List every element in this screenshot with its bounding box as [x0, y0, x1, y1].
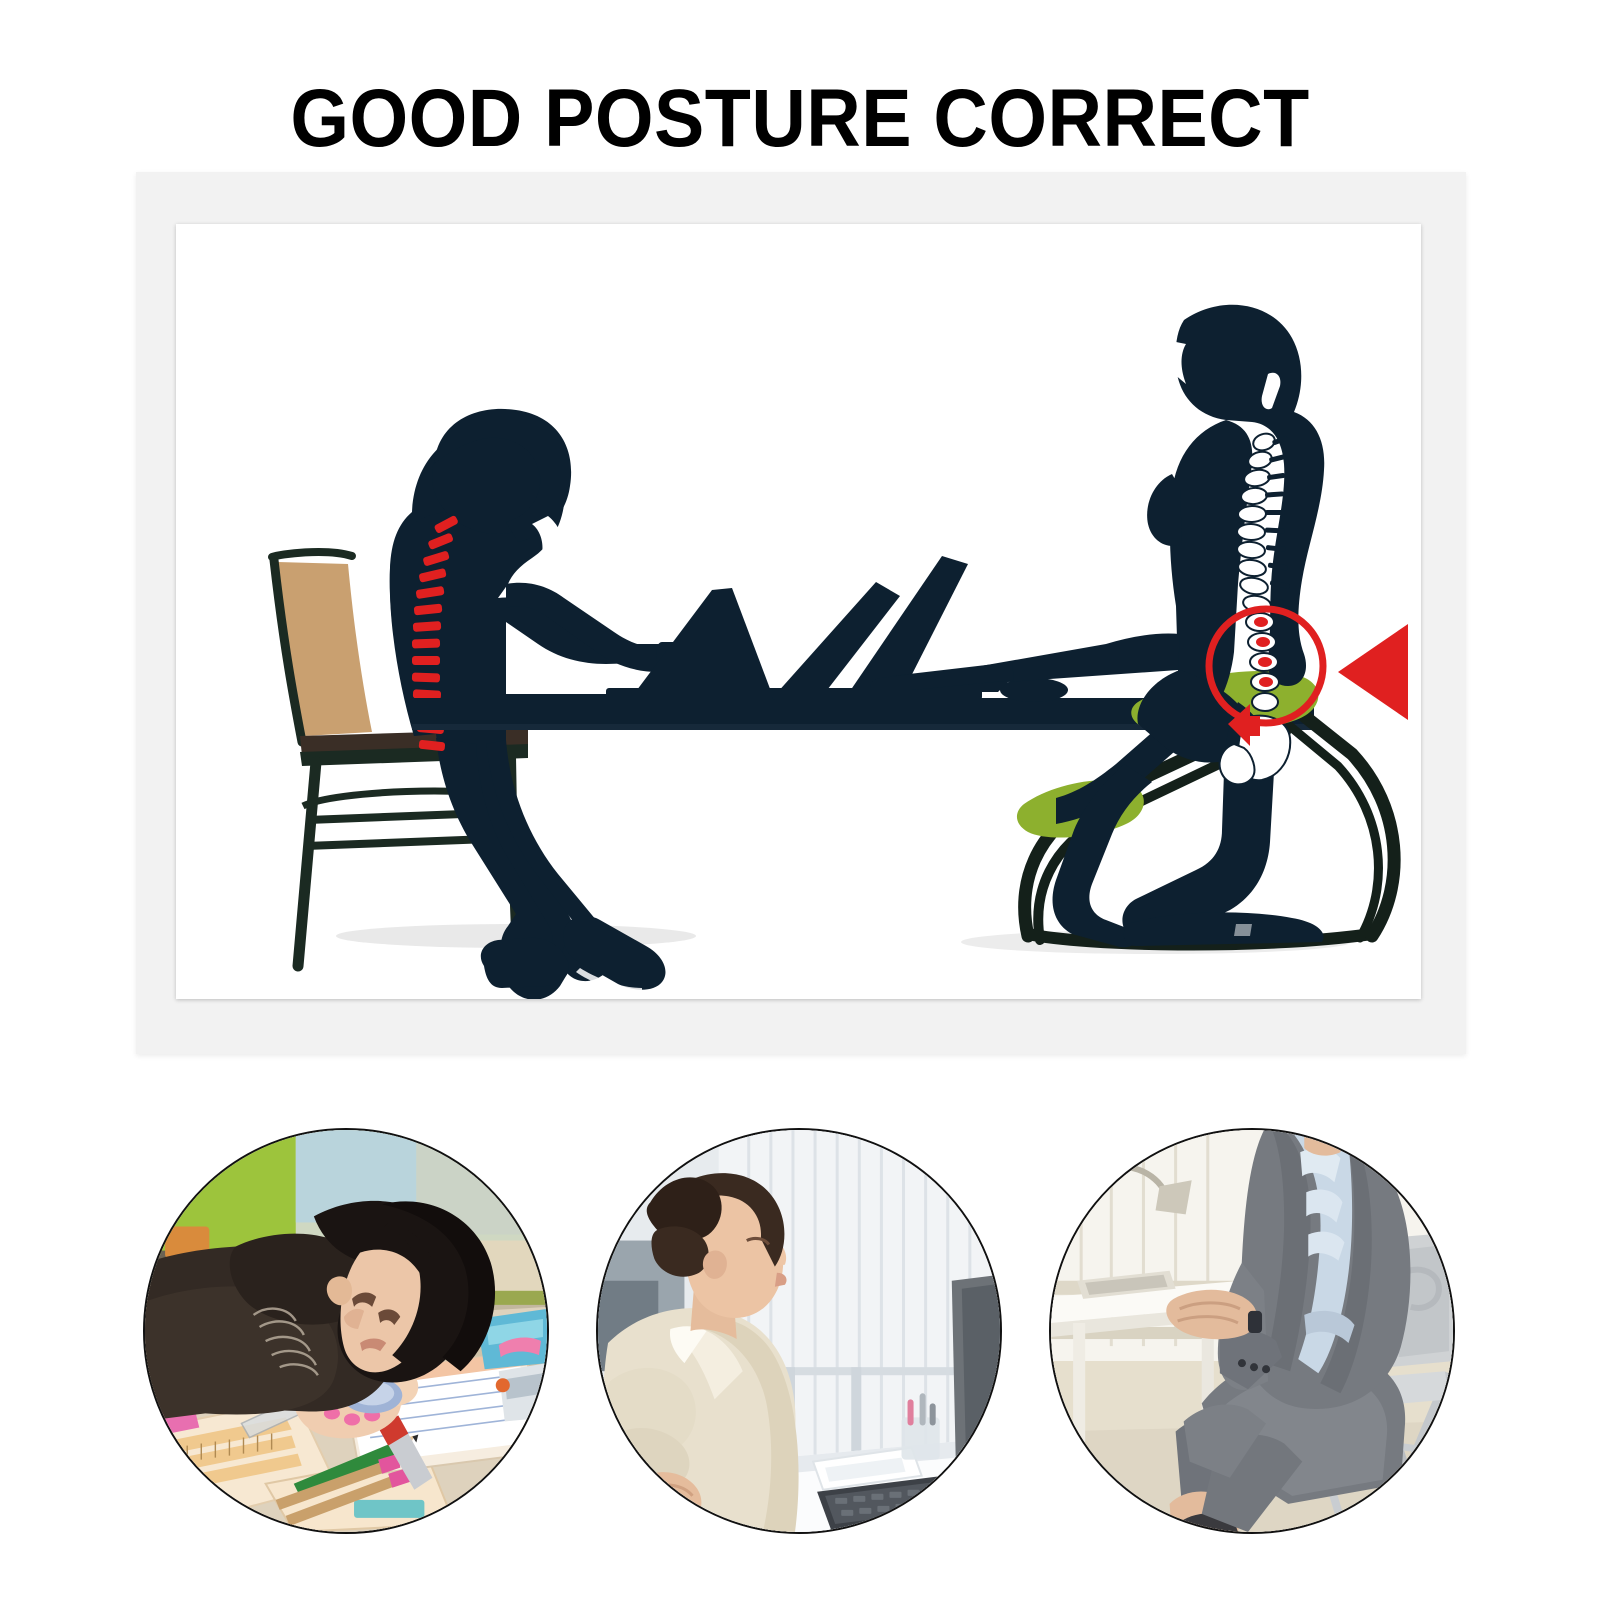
student-hunched-writing-image — [145, 1130, 547, 1532]
photo-circle-student-hunched — [143, 1128, 549, 1534]
hero-frame-mat — [176, 224, 1421, 999]
photo-circle-back-pain-office — [596, 1128, 1002, 1534]
woman-holding-lower-back-image — [598, 1130, 1000, 1532]
hero-picture-frame — [136, 172, 1466, 1054]
page-title: GOOD POSTURE CORRECT — [64, 71, 1536, 167]
poster-root: GOOD POSTURE CORRECT — [0, 0, 1600, 1600]
photo-circle-grey-suit-seated — [1049, 1128, 1455, 1534]
woman-grey-suit-seated-image — [1051, 1130, 1453, 1532]
posture-comparison-illustration — [176, 224, 1421, 999]
